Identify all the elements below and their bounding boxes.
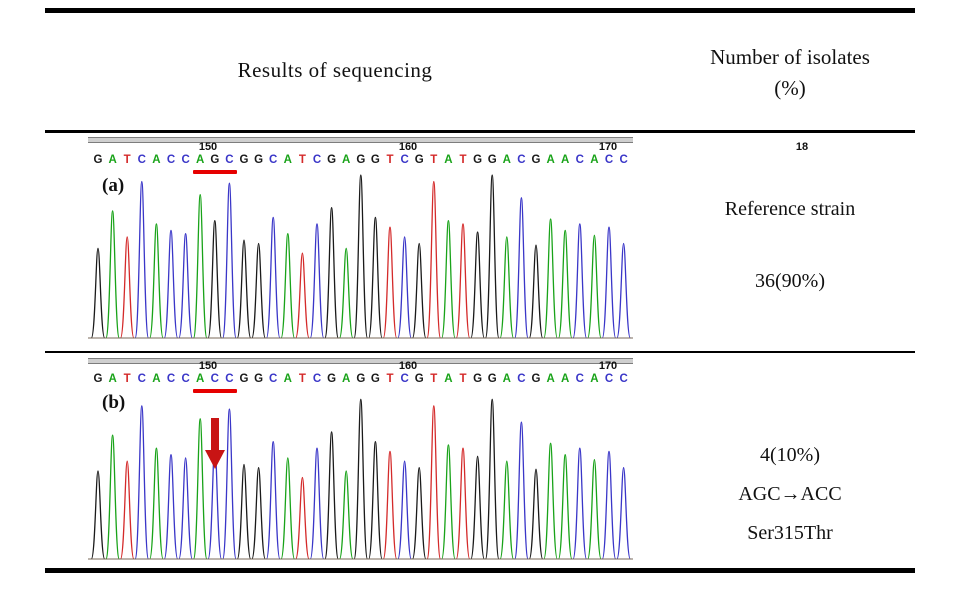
- tick-label: 170: [599, 360, 617, 372]
- base-letter: A: [444, 154, 452, 166]
- table-header-rule: [45, 130, 915, 133]
- column-header-sequencing: Results of sequencing: [120, 58, 550, 83]
- base-letter: C: [576, 373, 584, 385]
- base-letter: C: [619, 154, 627, 166]
- base-letter: A: [152, 373, 160, 385]
- base-letter: T: [459, 373, 466, 385]
- base-letter: G: [94, 154, 103, 166]
- tick-label: 18: [796, 141, 808, 153]
- column-header-isolates-line1: Number of isolates: [645, 42, 935, 73]
- row1-strain-label: Reference strain: [645, 198, 935, 221]
- base-letter: A: [503, 373, 511, 385]
- base-letter: A: [108, 154, 116, 166]
- panel-b-base-sequence: GATCACCACCGGCATCGAGGTCGTATGGACGAACACC: [88, 373, 633, 389]
- base-letter: A: [444, 373, 452, 385]
- base-letter: C: [576, 154, 584, 166]
- base-letter: C: [167, 154, 175, 166]
- base-letter: G: [371, 154, 380, 166]
- tick-label: 170: [599, 141, 617, 153]
- base-letter: T: [124, 154, 131, 166]
- base-letter: T: [386, 373, 393, 385]
- base-letter: C: [517, 373, 525, 385]
- base-letter: T: [124, 373, 131, 385]
- base-letter: C: [605, 154, 613, 166]
- base-letter: G: [473, 154, 482, 166]
- arrow-shape: [205, 418, 225, 469]
- tick-label: 150: [199, 360, 217, 372]
- row2-isolate-count: 4(10%): [645, 444, 935, 467]
- base-letter: G: [240, 154, 249, 166]
- base-letter: C: [181, 154, 189, 166]
- trace-A: [106, 195, 601, 338]
- table-top-rule: [45, 8, 915, 13]
- base-letter: G: [327, 373, 336, 385]
- base-letter: C: [400, 154, 408, 166]
- row2-amino-acid-change: Ser315Thr: [645, 522, 935, 545]
- base-letter: C: [517, 154, 525, 166]
- base-letter: G: [488, 154, 497, 166]
- tick-label: 150: [199, 141, 217, 153]
- panel-b-tick-labels: 150160170: [88, 360, 633, 373]
- base-letter: A: [546, 154, 554, 166]
- base-letter: G: [254, 373, 263, 385]
- base-letter: C: [225, 373, 233, 385]
- panel-a-tick-labels: 15016017018: [88, 141, 633, 154]
- base-letter: A: [561, 373, 569, 385]
- chromatogram-panel-a: 15016017018 GATCACCAGCGGCATCGAGGTCGTATGG…: [88, 137, 633, 345]
- base-letter: A: [284, 373, 292, 385]
- base-letter: T: [430, 373, 437, 385]
- base-letter: T: [386, 154, 393, 166]
- base-letter: G: [356, 154, 365, 166]
- base-letter: G: [488, 373, 497, 385]
- panel-b-trace: [88, 388, 633, 563]
- base-letter: T: [430, 154, 437, 166]
- base-letter: G: [327, 154, 336, 166]
- base-letter: G: [415, 373, 424, 385]
- base-letter: A: [342, 373, 350, 385]
- panel-a-trace: [88, 167, 633, 342]
- base-letter: A: [503, 154, 511, 166]
- base-letter: G: [371, 373, 380, 385]
- base-letter: A: [108, 373, 116, 385]
- base-letter: C: [619, 373, 627, 385]
- base-letter: T: [459, 154, 466, 166]
- trace-G: [91, 399, 542, 559]
- base-letter: G: [356, 373, 365, 385]
- trace-G: [91, 175, 542, 338]
- base-letter: G: [415, 154, 424, 166]
- base-letter: G: [532, 373, 541, 385]
- base-letter: C: [167, 373, 175, 385]
- trace-C: [135, 182, 630, 339]
- base-letter: G: [532, 154, 541, 166]
- base-letter: T: [299, 154, 306, 166]
- base-letter: C: [269, 373, 277, 385]
- base-letter: A: [590, 154, 598, 166]
- base-letter: A: [590, 373, 598, 385]
- base-letter: C: [181, 373, 189, 385]
- base-letter: A: [561, 154, 569, 166]
- base-letter: A: [152, 154, 160, 166]
- table-bottom-rule: [45, 568, 915, 573]
- trace-A: [106, 419, 601, 559]
- row1-isolate-count: 36(90%): [645, 270, 935, 293]
- base-letter: C: [138, 373, 146, 385]
- base-letter: A: [196, 373, 204, 385]
- base-letter: C: [605, 373, 613, 385]
- base-letter: G: [94, 373, 103, 385]
- base-letter: C: [225, 154, 233, 166]
- base-letter: A: [284, 154, 292, 166]
- base-letter: T: [299, 373, 306, 385]
- tick-label: 160: [399, 141, 417, 153]
- base-letter: G: [240, 373, 249, 385]
- column-header-isolates-line2: (%): [645, 73, 935, 104]
- mutation-arrow-icon: [204, 418, 226, 470]
- base-letter: C: [269, 154, 277, 166]
- table-row-divider: [45, 351, 915, 353]
- base-letter: C: [400, 373, 408, 385]
- base-letter: A: [196, 154, 204, 166]
- base-letter: C: [313, 154, 321, 166]
- base-letter: G: [473, 373, 482, 385]
- base-letter: C: [138, 154, 146, 166]
- column-header-isolates: Number of isolates (%): [645, 42, 935, 104]
- base-letter: G: [254, 154, 263, 166]
- base-letter: A: [546, 373, 554, 385]
- base-letter: A: [342, 154, 350, 166]
- tick-label: 160: [399, 360, 417, 372]
- base-letter: C: [313, 373, 321, 385]
- base-letter: C: [211, 373, 219, 385]
- chromatogram-panel-b: 150160170 GATCACCACCGGCATCGAGGTCGTATGGAC…: [88, 356, 633, 564]
- row2-codon-change: AGC→ACC: [645, 483, 935, 506]
- base-letter: G: [210, 154, 219, 166]
